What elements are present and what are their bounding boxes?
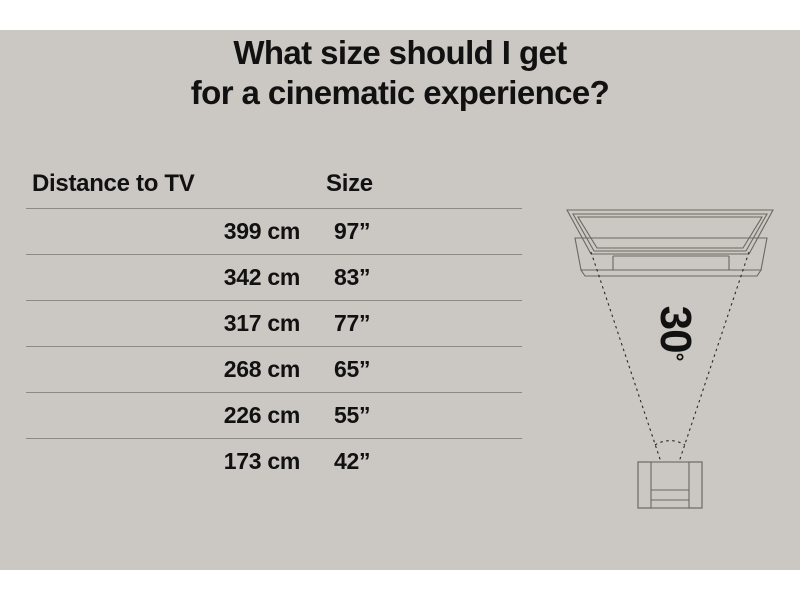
- column-header-distance: Distance to TV: [26, 170, 326, 198]
- viewing-angle-label: 30°: [640, 303, 710, 363]
- table-row: 399 cm 97”: [26, 208, 522, 254]
- page-title-line-1: What size should I get: [0, 33, 800, 73]
- table-row: 173 cm 42”: [26, 438, 522, 484]
- poster-canvas: What size should I get for a cinematic e…: [0, 0, 800, 600]
- cell-distance: 173 cm: [26, 448, 326, 475]
- table-header-row: Distance to TV Size: [26, 160, 522, 208]
- cell-size: 77”: [326, 310, 522, 337]
- column-header-size: Size: [326, 170, 522, 198]
- cell-size: 97”: [326, 218, 522, 245]
- cell-distance: 226 cm: [26, 402, 326, 429]
- cell-size: 42”: [326, 448, 522, 475]
- size-guide-table: Distance to TV Size 399 cm 97” 342 cm 83…: [26, 160, 522, 484]
- tv-stand-icon: [575, 238, 767, 276]
- cell-distance: 342 cm: [26, 264, 326, 291]
- table-row: 226 cm 55”: [26, 392, 522, 438]
- table-row: 342 cm 83”: [26, 254, 522, 300]
- degree-symbol: °: [664, 353, 686, 361]
- angle-arc: [655, 441, 685, 445]
- page-title: What size should I get for a cinematic e…: [0, 33, 800, 113]
- cell-distance: 399 cm: [26, 218, 326, 245]
- angle-value: 30: [653, 306, 697, 353]
- tv-screen-icon: [567, 210, 773, 254]
- cell-distance: 268 cm: [26, 356, 326, 383]
- cell-size: 83”: [326, 264, 522, 291]
- cell-distance: 317 cm: [26, 310, 326, 337]
- table-row: 317 cm 77”: [26, 300, 522, 346]
- page-title-line-2: for a cinematic experience?: [0, 73, 800, 113]
- table-row: 268 cm 65”: [26, 346, 522, 392]
- cell-size: 55”: [326, 402, 522, 429]
- sofa-icon: [638, 462, 702, 508]
- cell-size: 65”: [326, 356, 522, 383]
